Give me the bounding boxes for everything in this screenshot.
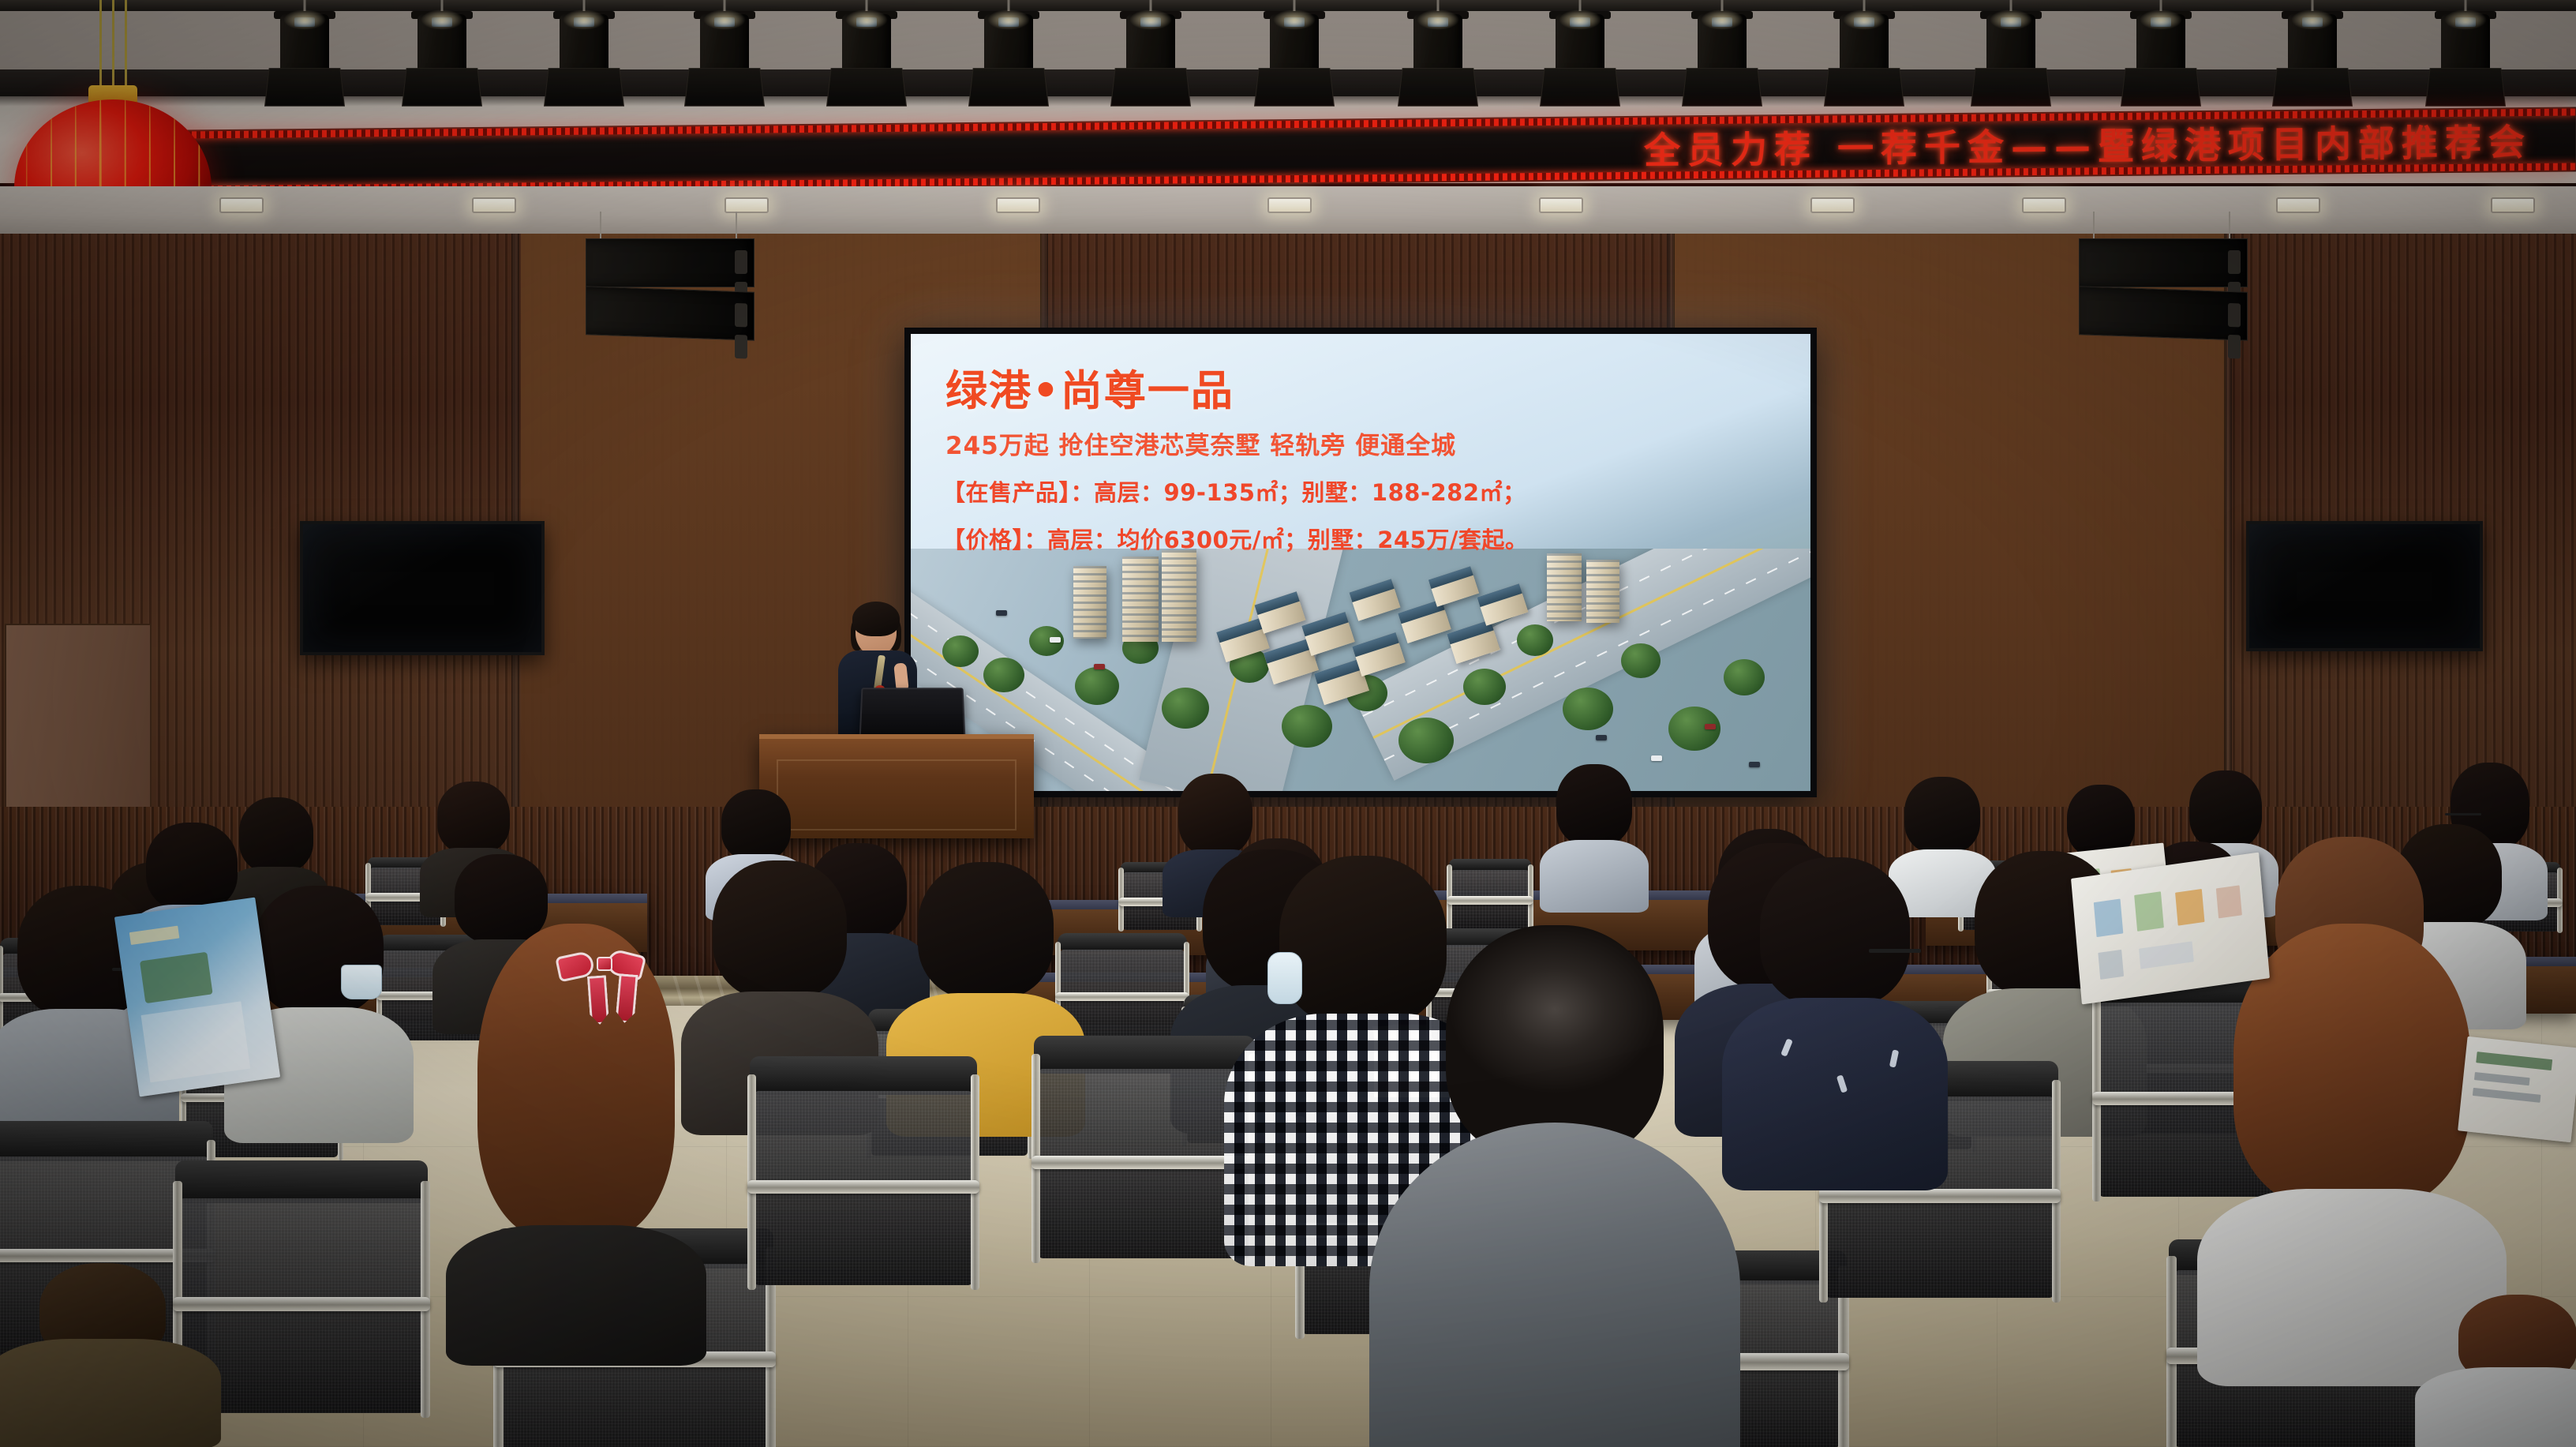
white-handout[interactable] <box>2071 853 2270 1005</box>
recessed-downlight <box>996 197 1040 213</box>
right-line-array-speaker <box>2079 238 2248 338</box>
audience-chair[interactable] <box>750 1056 977 1285</box>
recessed-downlight <box>1267 197 1312 213</box>
presenter-laptop[interactable] <box>859 688 965 740</box>
blue-brochure[interactable] <box>114 898 280 1097</box>
slide-surface: 绿港•尚尊一品 245万起 抢住空港芯莫奈墅 轻轨旁 便通全城 【在售产品】：高… <box>911 334 1810 791</box>
audience-member-grey-shirt <box>1389 925 1720 1447</box>
audience-member <box>1736 857 1934 1189</box>
white-handout[interactable] <box>2458 1037 2576 1142</box>
recessed-downlight <box>1810 197 1855 213</box>
audience-member <box>1547 764 1642 913</box>
recessed-downlight <box>219 197 264 213</box>
red-hair-bow <box>557 944 715 1063</box>
right-wall-tv[interactable] <box>2246 521 2483 651</box>
eyeglasses-icon <box>2445 813 2481 815</box>
slide-price-line: 【价格】：高层：均价6300元/㎡；别墅：245万/套起。 <box>942 522 1528 555</box>
recessed-downlight <box>724 197 769 213</box>
left-wall-tv[interactable] <box>300 521 545 655</box>
audience-member <box>0 1263 221 1447</box>
recessed-downlight <box>472 197 516 213</box>
slide-products-line: 【在售产品】：高层：99-135㎡；别墅：188-282㎡； <box>942 474 1526 508</box>
left-line-array-speaker <box>586 238 754 338</box>
eyeglasses-icon <box>1869 949 1921 953</box>
audience-member <box>2415 1295 2576 1447</box>
recessed-downlight <box>2276 197 2320 213</box>
recessed-downlight <box>1539 197 1583 213</box>
led-banner-text: 全员力荐 一荐千金——暨绿港项目内部推荐会 <box>1644 114 2532 174</box>
face-mask-icon <box>1267 952 1302 1004</box>
slide-title: 绿港•尚尊一品 <box>945 358 1234 418</box>
recessed-downlight <box>2491 197 2535 213</box>
aerial-rendering-image <box>911 549 1810 791</box>
projection-screen: 绿港•尚尊一品 245万起 抢住空港芯莫奈墅 轻轨旁 便通全城 【在售产品】：高… <box>904 328 1817 797</box>
conference-hall-scene: 全员力荐 一荐千金——暨绿港项目内部推荐会 <box>0 0 2576 1447</box>
lantern-cord <box>95 0 129 95</box>
recessed-downlight <box>2022 197 2066 213</box>
audience-chair[interactable] <box>1034 1036 1255 1258</box>
face-mask-icon <box>341 965 382 999</box>
slide-subtitle: 245万起 抢住空港芯莫奈墅 轻轨旁 便通全城 <box>945 425 1456 461</box>
